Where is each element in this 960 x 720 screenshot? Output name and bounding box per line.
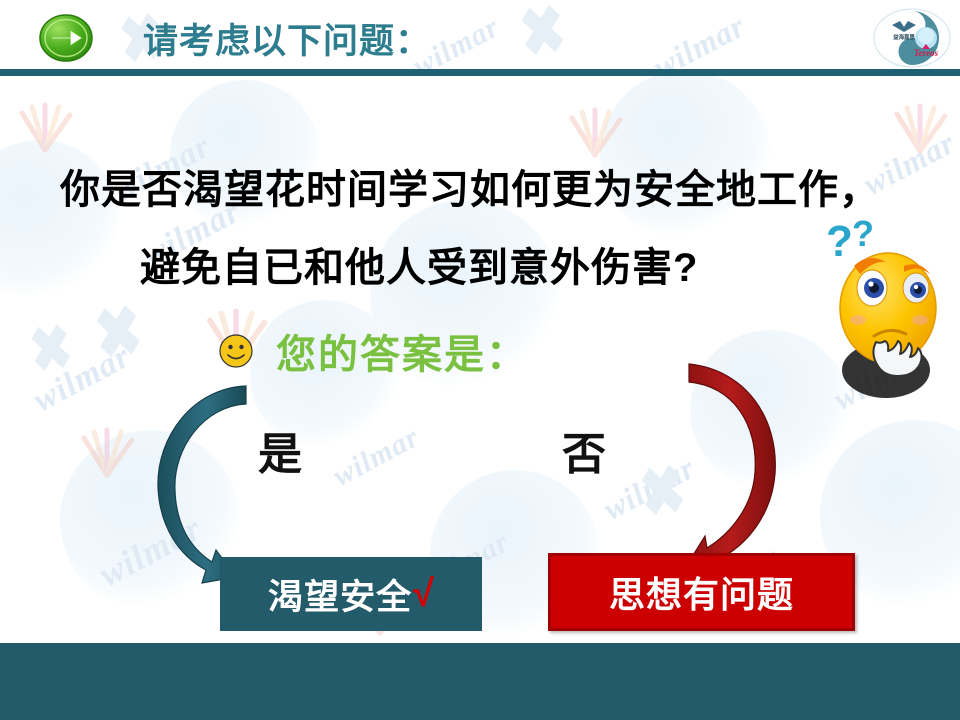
flower-watermark-icon bbox=[885, 96, 955, 156]
checkmark-icon: √ bbox=[413, 573, 434, 616]
question-line-1: 你是否渴望花时间学习如何更为安全地工作， bbox=[60, 157, 880, 215]
curved-arrow-down-right-icon bbox=[655, 358, 795, 583]
wilmar-logo-watermark: ✖ bbox=[25, 310, 77, 388]
wilmar-logo-watermark: ✖ bbox=[635, 449, 691, 533]
smiley-face-icon bbox=[218, 333, 254, 369]
svg-text:益海嘉里: 益海嘉里 bbox=[893, 33, 915, 41]
question-line-2: 避免自已和他人受到意外伤害? bbox=[140, 235, 698, 293]
option-yes[interactable]: 是 bbox=[258, 418, 302, 482]
wilmar-logo-watermark: ✖ bbox=[89, 289, 147, 377]
answer-prompt-label: 您的答案是： bbox=[276, 322, 528, 380]
green-circle-arrow-icon[interactable] bbox=[38, 14, 94, 62]
result-box-problem-label: 思想有问题 bbox=[609, 566, 794, 618]
wilmar-watermark-text: wilmar bbox=[27, 338, 137, 420]
wilmar-tereos-logo: 益海嘉里 Tereos bbox=[872, 8, 952, 68]
slide-header: 请考虑以下问题： 益海嘉里 Tereos bbox=[0, 0, 960, 76]
flower-watermark-icon bbox=[10, 95, 80, 155]
svg-text:Tereos: Tereos bbox=[914, 48, 939, 58]
slide-footer-bar bbox=[0, 643, 960, 720]
thinking-face-emoji: ? ? bbox=[808, 208, 960, 408]
page-title: 请考虑以下问题： bbox=[143, 13, 431, 64]
slide-canvas: wilmar wilmar wilmar wilmar wilmar wilma… bbox=[0, 0, 960, 720]
flower-watermark-icon bbox=[560, 100, 630, 160]
svg-text:?: ? bbox=[826, 217, 853, 266]
wilmar-watermark-text: wilmar bbox=[597, 449, 701, 528]
wilmar-watermark-text: wilmar bbox=[92, 507, 209, 596]
svg-text:?: ? bbox=[852, 213, 874, 254]
result-box-safe-label: 渴望安全 bbox=[268, 569, 412, 620]
wilmar-watermark-text: wilmar bbox=[327, 420, 425, 494]
answer-prompt-row: 您的答案是： bbox=[218, 322, 528, 380]
flower-watermark-icon bbox=[72, 420, 142, 480]
option-no[interactable]: 否 bbox=[562, 418, 606, 482]
result-box-problem[interactable]: 思想有问题 bbox=[548, 553, 855, 631]
result-box-safe[interactable]: 渴望安全 √ bbox=[220, 557, 482, 631]
header-divider bbox=[0, 69, 960, 76]
